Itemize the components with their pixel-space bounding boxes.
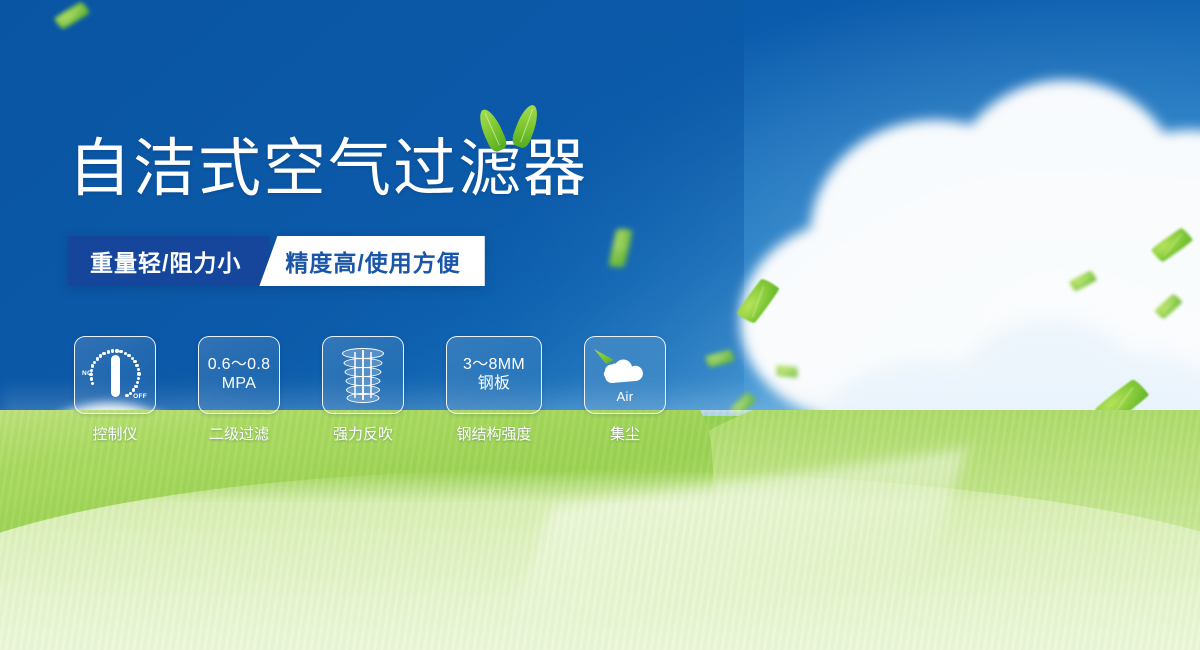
feature-label: 二级过滤 [209, 423, 269, 444]
gauge-tick [89, 373, 92, 376]
gauge-tick [129, 392, 132, 395]
gauge-tick [93, 361, 96, 364]
gauge-tick [90, 377, 93, 380]
feature-item-dust-collection[interactable]: Air 集尘 [584, 336, 666, 444]
gauge-tick [115, 349, 118, 352]
feature-list: NO OFF 控制仪 0.6～0.8 MPA 二级过滤 [74, 336, 666, 444]
gauge-tick [90, 369, 93, 372]
title-block: 自洁式空气过滤器 [68, 138, 588, 201]
title-leaf-pair [473, 104, 553, 152]
feature-icon-box: 0.6～0.8 MPA [198, 336, 280, 414]
steel-plate-text-icon: 3～8MM 钢板 [463, 356, 525, 393]
gauge-needle [111, 355, 120, 397]
gauge-tick [134, 385, 137, 388]
feature-item-steel-strength[interactable]: 3～8MM 钢板 钢结构强度 [446, 336, 542, 444]
gauge-tick [107, 350, 110, 353]
feature-icon-box: NO OFF [74, 336, 156, 414]
feature-item-secondary-filter[interactable]: 0.6～0.8 MPA 二级过滤 [198, 336, 280, 444]
gauge-tick [102, 352, 105, 355]
gauge-tick [91, 364, 94, 367]
feature-item-backblow[interactable]: 强力反吹 [322, 336, 404, 444]
gauge-icon: NO OFF [84, 346, 146, 404]
pressure-range: 0.6～0.8 [208, 356, 271, 375]
steel-thickness: 3～8MM [463, 356, 525, 375]
gauge-tick [125, 394, 128, 397]
promo-banner: 自洁式空气过滤器 重量轻/阻力小 精度高/使用方便 NO OFF 控制仪 0.6… [0, 0, 1200, 650]
feature-label: 强力反吹 [333, 423, 393, 444]
feature-label: 钢结构强度 [456, 423, 531, 444]
gauge-off-label: OFF [133, 393, 147, 400]
gauge-tick [127, 354, 130, 357]
gauge-tick [137, 372, 140, 375]
subtitle-right: 精度高/使用方便 [259, 236, 484, 286]
feature-label: 集尘 [610, 423, 640, 444]
feature-icon-box [322, 336, 404, 414]
subtitle-bar: 重量轻/阻力小 精度高/使用方便 [68, 236, 485, 286]
grass-texture [0, 410, 1200, 650]
gauge-tick [132, 388, 135, 391]
pressure-unit: MPA [208, 375, 271, 394]
feature-icon-box: Air [584, 336, 666, 414]
cloud-svg [592, 347, 658, 391]
feature-icon-box: 3～8MM 钢板 [446, 336, 542, 414]
pressure-text-icon: 0.6～0.8 MPA [208, 356, 271, 393]
gauge-tick [133, 360, 136, 363]
filter-coil-icon [339, 346, 387, 404]
leaf-icon [510, 102, 542, 150]
gauge-tick [91, 382, 94, 385]
gauge-tick [119, 350, 122, 353]
subtitle-left: 重量轻/阻力小 [68, 236, 269, 286]
gauge-tick [135, 364, 138, 367]
steel-material: 钢板 [463, 375, 525, 394]
feature-item-controller[interactable]: NO OFF 控制仪 [74, 336, 156, 444]
air-label: Air [592, 389, 658, 404]
gauge-tick [111, 349, 114, 352]
feature-label: 控制仪 [92, 423, 137, 444]
grass-field [0, 410, 1200, 650]
gauge-tick [96, 357, 99, 360]
leaf-icon [475, 106, 509, 154]
gauge-tick [137, 368, 140, 371]
air-cloud-icon: Air [592, 347, 658, 403]
gauge-tick [137, 377, 140, 380]
gauge-tick [136, 381, 139, 384]
